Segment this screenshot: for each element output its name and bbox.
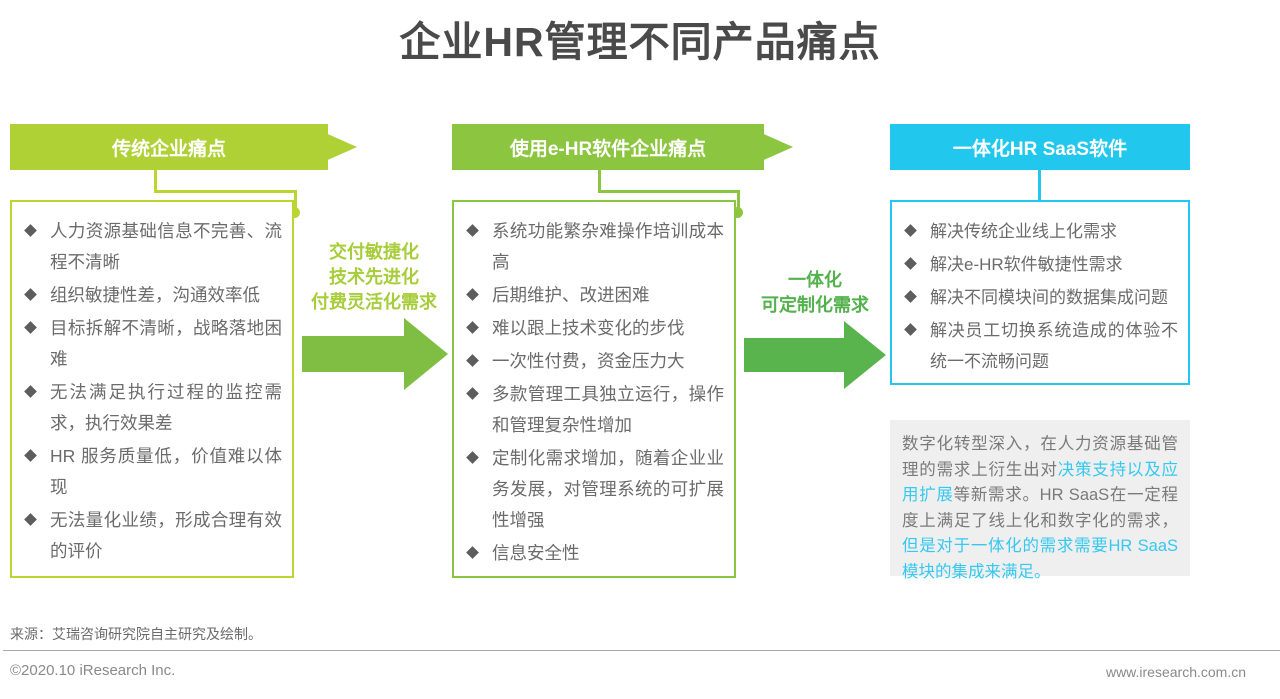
list-item: 解决传统企业线上化需求 <box>900 216 1178 247</box>
list-item-text: 解决e-HR软件敏捷性需求 <box>930 255 1123 274</box>
transition-label-line: 可定制化需求 <box>740 293 890 318</box>
list-item-text: 无法满足执行过程的监控需求，执行效果差 <box>50 382 282 433</box>
list-item: 后期维护、改进困难 <box>462 280 724 311</box>
diamond-bullet-icon <box>24 449 37 462</box>
diamond-bullet-icon <box>24 224 37 237</box>
arrow-shaft <box>302 336 404 372</box>
list-item: 解决e-HR软件敏捷性需求 <box>900 249 1178 280</box>
column-header-ehr-label: 使用e-HR软件企业痛点 <box>510 134 706 161</box>
diamond-bullet-icon <box>904 323 917 336</box>
pain-points-list-ehr: 系统功能繁杂难操作培训成本高 后期维护、改进困难 难以跟上技术变化的步伐 一次性… <box>454 202 734 569</box>
copyright-text: ©2020.10 iResearch Inc. <box>10 662 175 679</box>
source-note: 来源：艾瑞咨询研究院自主研究及绘制。 <box>10 624 262 644</box>
arrow-head-icon <box>404 318 448 390</box>
footer-divider <box>0 650 1280 651</box>
transition-arrow-group-1: 交付敏捷化 技术先进化 付费灵活化需求 <box>296 240 452 315</box>
connector-segment-vertical-top <box>598 170 601 192</box>
list-item-text: 难以跟上技术变化的步伐 <box>492 318 685 338</box>
diamond-bullet-icon <box>466 224 479 237</box>
note-segment-highlighted: 但是对于一体化的需求需要HR SaaS模块的集成来满足。 <box>902 537 1178 581</box>
list-item: 定制化需求增加，随着企业业务发展，对管理系统的可扩展性增强 <box>462 443 724 536</box>
list-item: 组织敏捷性差，沟通效率低 <box>20 280 282 311</box>
column-header-saas-label: 一体化HR SaaS软件 <box>953 134 1127 161</box>
list-item-text: 解决员工切换系统造成的体验不统一不流畅问题 <box>930 321 1178 371</box>
diamond-bullet-icon <box>24 321 37 334</box>
diamond-bullet-icon <box>24 385 37 398</box>
list-item-text: 无法量化业绩，形成合理有效的评价 <box>50 510 282 561</box>
list-item: 人力资源基础信息不完善、流程不清晰 <box>20 216 282 278</box>
list-item: 系统功能繁杂难操作培训成本高 <box>462 216 724 278</box>
pain-points-list-traditional: 人力资源基础信息不完善、流程不清晰 组织敏捷性差，沟通效率低 目标拆解不清晰，战… <box>12 202 292 567</box>
list-item-text: HR 服务质量低，价值难以体现 <box>50 446 282 497</box>
diamond-bullet-icon <box>24 513 37 526</box>
list-item-text: 多款管理工具独立运行，操作和管理复杂性增加 <box>492 384 724 435</box>
diamond-bullet-icon <box>466 546 479 559</box>
left-edge-spacer <box>0 0 3 699</box>
transition-arrow-group-2: 一体化 可定制化需求 <box>740 268 890 318</box>
connector-segment-vertical-top <box>154 170 157 192</box>
diamond-bullet-icon <box>466 387 479 400</box>
list-item: 目标拆解不清晰，战略落地困难 <box>20 313 282 375</box>
list-item: 解决不同模块间的数据集成问题 <box>900 282 1178 313</box>
arrow-head-icon <box>844 321 886 389</box>
summary-note-box: 数字化转型深入，在人力资源基础管理的需求上衍生出对决策支持以及应用扩展等新需求。… <box>890 420 1190 576</box>
pain-points-box-ehr: 系统功能繁杂难操作培训成本高 后期维护、改进困难 难以跟上技术变化的步伐 一次性… <box>452 200 736 578</box>
transition-arrow-label-2: 一体化 可定制化需求 <box>740 268 890 318</box>
list-item: HR 服务质量低，价值难以体现 <box>20 441 282 503</box>
connector-segment-horizontal <box>598 190 740 193</box>
list-item: 无法满足执行过程的监控需求，执行效果差 <box>20 377 282 439</box>
column-header-traditional: 传统企业痛点 <box>10 124 357 170</box>
page-title: 企业HR管理不同产品痛点 <box>0 8 1280 68</box>
list-item: 无法量化业绩，形成合理有效的评价 <box>20 505 282 567</box>
transition-label-line: 一体化 <box>740 268 890 293</box>
diamond-bullet-icon <box>466 288 479 301</box>
solutions-list-saas: 解决传统企业线上化需求 解决e-HR软件敏捷性需求 解决不同模块间的数据集成问题… <box>892 202 1188 377</box>
solutions-box-saas: 解决传统企业线上化需求 解决e-HR软件敏捷性需求 解决不同模块间的数据集成问题… <box>890 200 1190 385</box>
list-item-text: 定制化需求增加，随着企业业务发展，对管理系统的可扩展性增强 <box>492 448 724 530</box>
list-item: 难以跟上技术变化的步伐 <box>462 313 724 344</box>
column-header-traditional-label: 传统企业痛点 <box>112 134 226 161</box>
column-header-ehr: 使用e-HR软件企业痛点 <box>452 124 793 170</box>
diamond-bullet-icon <box>466 354 479 367</box>
list-item-text: 信息安全性 <box>492 543 580 563</box>
list-item-text: 人力资源基础信息不完善、流程不清晰 <box>50 221 282 272</box>
diamond-bullet-icon <box>904 224 917 237</box>
transition-label-line: 付费灵活化需求 <box>296 290 452 315</box>
website-text: www.iresearch.com.cn <box>1106 664 1246 680</box>
list-item-text: 组织敏捷性差，沟通效率低 <box>50 285 260 305</box>
arrow-shaft <box>744 338 844 372</box>
diamond-bullet-icon <box>904 257 917 270</box>
column-header-saas: 一体化HR SaaS软件 <box>890 124 1190 170</box>
list-item-text: 后期维护、改进困难 <box>492 285 650 305</box>
connector-segment-horizontal <box>154 190 297 193</box>
diamond-bullet-icon <box>24 288 37 301</box>
diamond-bullet-icon <box>466 451 479 464</box>
list-item: 解决员工切换系统造成的体验不统一不流畅问题 <box>900 315 1178 377</box>
diamond-bullet-icon <box>904 290 917 303</box>
list-item-text: 系统功能繁杂难操作培训成本高 <box>492 221 724 272</box>
diamond-bullet-icon <box>466 321 479 334</box>
list-item: 信息安全性 <box>462 538 724 569</box>
transition-label-line: 技术先进化 <box>296 265 452 290</box>
transition-arrow-label-1: 交付敏捷化 技术先进化 付费灵活化需求 <box>296 240 452 315</box>
list-item-text: 一次性付费，资金压力大 <box>492 351 685 371</box>
list-item-text: 目标拆解不清晰，战略落地困难 <box>50 318 282 369</box>
pain-points-box-traditional: 人力资源基础信息不完善、流程不清晰 组织敏捷性差，沟通效率低 目标拆解不清晰，战… <box>10 200 294 578</box>
transition-label-line: 交付敏捷化 <box>296 240 452 265</box>
list-item-text: 解决传统企业线上化需求 <box>930 222 1117 241</box>
list-item: 一次性付费，资金压力大 <box>462 346 724 377</box>
list-item: 多款管理工具独立运行，操作和管理复杂性增加 <box>462 379 724 441</box>
infographic-canvas: 企业HR管理不同产品痛点 传统企业痛点 使用e-HR软件企业痛点 一体化HR S… <box>0 0 1280 699</box>
list-item-text: 解决不同模块间的数据集成问题 <box>930 288 1168 307</box>
